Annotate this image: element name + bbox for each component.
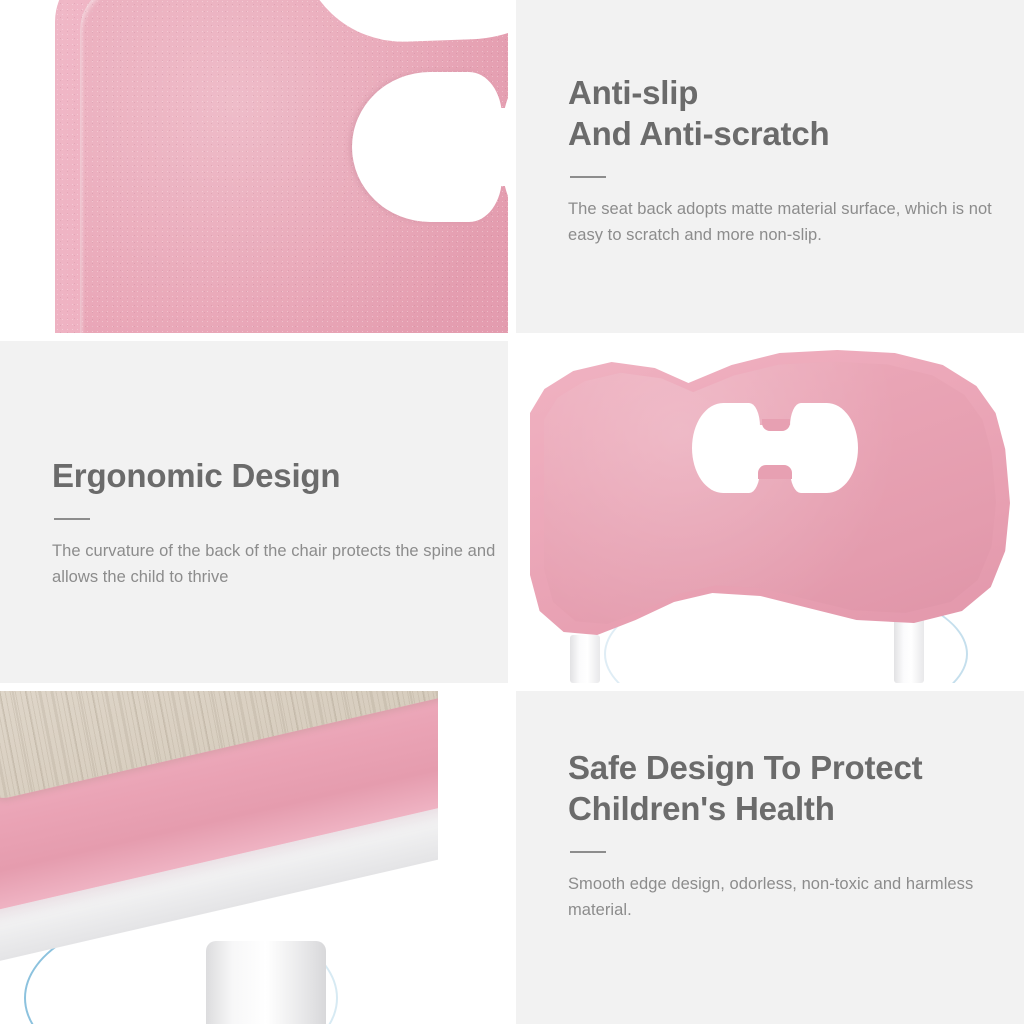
bow-right-lobe: [502, 78, 508, 216]
heading-divider-rule: [570, 851, 606, 853]
panel-ergonomic-body: The curvature of the back of the chair p…: [52, 538, 508, 590]
desk-right-crop-mask: [438, 691, 508, 1024]
chair-back-macro-illustration: [0, 0, 508, 333]
panel-ergonomic-design: Ergonomic Design The curvature of the ba…: [0, 341, 508, 683]
bow-waist: [456, 108, 508, 186]
panel-anti-slip-heading: Anti-slip And Anti-scratch: [568, 72, 1024, 154]
desk-illustration: [0, 691, 508, 1024]
heading-line-2: And Anti-scratch: [568, 115, 829, 152]
image-chair-back-full: [516, 341, 1024, 683]
panel-ergonomic-heading: Ergonomic Design: [52, 455, 508, 496]
panel-safe-design-heading: Safe Design To Protect Children's Health: [568, 747, 1024, 829]
panel-safe-design-body: Smooth edge design, odorless, non-toxic …: [568, 871, 1024, 923]
image-desk-corner: [0, 691, 508, 1024]
heading-divider-rule: [54, 518, 90, 520]
panel-anti-slip: Anti-slip And Anti-scratch The seat back…: [516, 0, 1024, 333]
bow-cutout-macro: [352, 72, 508, 222]
heading-divider-rule: [570, 176, 606, 178]
bow-cutout-full: [692, 403, 858, 493]
desk-leg: [206, 941, 326, 1024]
heading-line-1: Ergonomic Design: [52, 457, 340, 494]
panel-safe-design: Safe Design To Protect Children's Health…: [516, 691, 1024, 1024]
image-chair-back-macro: [0, 0, 508, 333]
heading-line-2: Children's Health: [568, 790, 835, 827]
heading-line-1: Safe Design To Protect: [568, 749, 922, 786]
heading-line-1: Anti-slip: [568, 74, 698, 111]
chair-illustration: [516, 341, 1024, 683]
bow-notch-bottom: [758, 465, 792, 479]
panel-anti-slip-body: The seat back adopts matte material surf…: [568, 196, 1024, 248]
bow-notch-top: [762, 419, 790, 431]
feature-grid: Anti-slip And Anti-scratch The seat back…: [0, 0, 1024, 1024]
chair-leg-left: [570, 635, 600, 683]
